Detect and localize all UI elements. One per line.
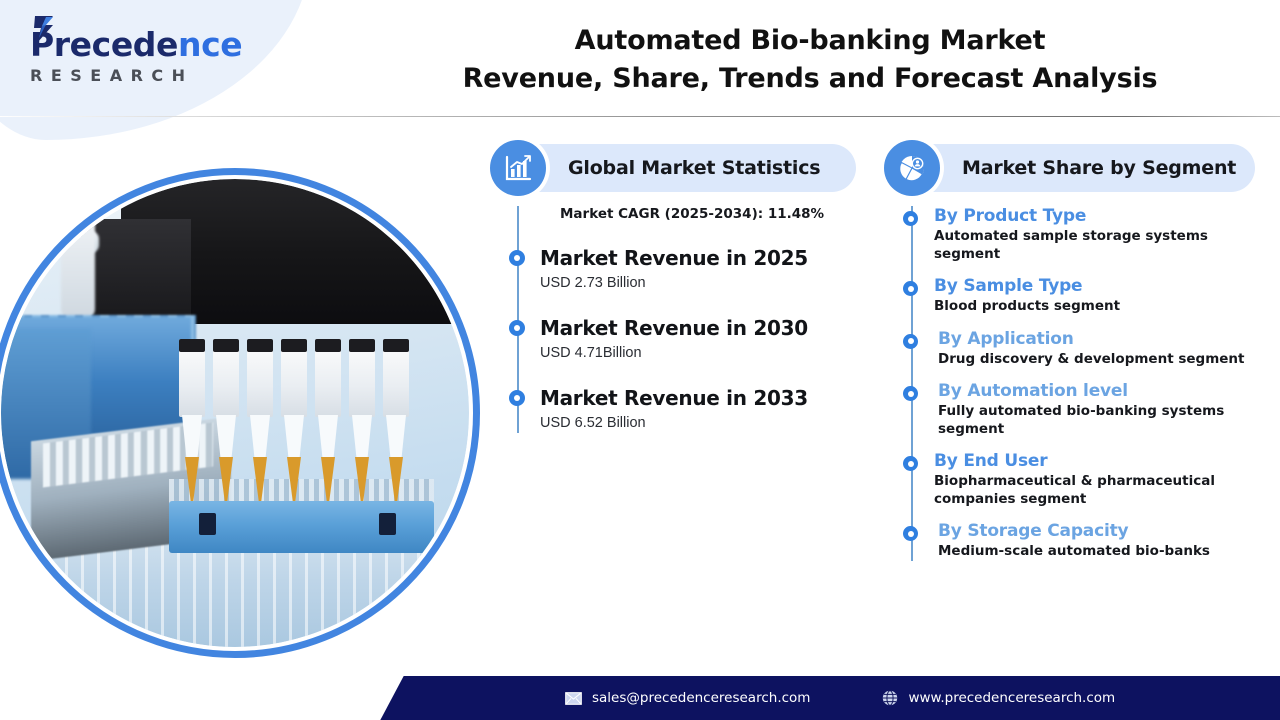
envelope-icon bbox=[565, 692, 582, 705]
segment-title: By Sample Type bbox=[934, 276, 1264, 297]
timeline-dot-icon bbox=[509, 320, 525, 336]
logo-text-tail: nce bbox=[178, 25, 242, 64]
timeline-dot-icon bbox=[903, 211, 918, 226]
segment-title: By End User bbox=[934, 451, 1264, 472]
segment-title: By Product Type bbox=[934, 206, 1264, 227]
segment-item-sample-type: By Sample Type Blood products segment bbox=[884, 276, 1264, 316]
stat-title: Market Revenue in 2025 bbox=[540, 246, 870, 270]
timeline-dot-icon bbox=[903, 334, 918, 349]
title-line-2: Revenue, Share, Trends and Forecast Anal… bbox=[430, 60, 1190, 98]
segment-item-product-type: By Product Type Automated sample storage… bbox=[884, 206, 1264, 263]
segment-title: By Storage Capacity bbox=[938, 521, 1264, 542]
logo-wordmark: Precedence bbox=[30, 26, 242, 64]
header-divider bbox=[0, 116, 1280, 117]
segment-value: Fully automated bio-banking systems segm… bbox=[938, 403, 1264, 438]
footer-email-text: sales@precedenceresearch.com bbox=[592, 690, 810, 706]
logo-text-mid: recede bbox=[54, 25, 178, 64]
logo-subtitle: RESEARCH bbox=[30, 66, 242, 85]
segment-value: Medium-scale automated bio-banks bbox=[938, 543, 1264, 561]
left-panel-pill: Global Market Statistics bbox=[516, 144, 856, 192]
stat-value: USD 2.73 Billion bbox=[540, 274, 870, 293]
timeline-dot-icon bbox=[509, 250, 525, 266]
right-panel-pill: Market Share by Segment bbox=[910, 144, 1255, 192]
stat-item-2025: Market Revenue in 2025 USD 2.73 Billion bbox=[490, 246, 870, 293]
segment-value: Drug discovery & development segment bbox=[938, 351, 1264, 369]
segment-item-automation-level: By Automation level Fully automated bio-… bbox=[884, 381, 1264, 438]
right-panel-header: Market Share by Segment bbox=[884, 140, 1264, 196]
stat-title: Market Revenue in 2030 bbox=[540, 316, 870, 340]
footer-website[interactable]: www.precedenceresearch.com bbox=[882, 690, 1115, 706]
segment-item-application: By Application Drug discovery & developm… bbox=[884, 329, 1264, 369]
stat-item-2033: Market Revenue in 2033 USD 6.52 Billion bbox=[490, 386, 870, 433]
stat-item-2030: Market Revenue in 2030 USD 4.71Billion bbox=[490, 316, 870, 363]
timeline-dot-icon bbox=[903, 456, 918, 471]
timeline-dot-icon bbox=[903, 281, 918, 296]
timeline-dot-icon bbox=[509, 390, 525, 406]
origami-arrow-icon bbox=[33, 14, 60, 44]
stat-value: USD 6.52 Billion bbox=[540, 414, 870, 433]
globe-icon bbox=[882, 690, 898, 706]
segment-value: Automated sample storage systems segment bbox=[934, 228, 1264, 263]
segment-value: Biopharmaceutical & pharmaceutical compa… bbox=[934, 473, 1264, 508]
pie-chart-segment-icon bbox=[884, 140, 940, 196]
page-title: Automated Bio-banking Market Revenue, Sh… bbox=[430, 22, 1190, 98]
title-line-1: Automated Bio-banking Market bbox=[430, 22, 1190, 60]
market-cagr: Market CAGR (2025-2034): 11.48% bbox=[490, 206, 870, 222]
footer-bar: sales@precedenceresearch.com www.precede… bbox=[430, 676, 1280, 720]
segment-item-end-user: By End User Biopharmaceutical & pharmace… bbox=[884, 451, 1264, 508]
header: Precedence RESEARCH Automated Bio-bankin… bbox=[0, 0, 1280, 117]
global-market-statistics-panel: Global Market Statistics Market CAGR (20… bbox=[490, 140, 870, 456]
stat-title: Market Revenue in 2033 bbox=[540, 386, 870, 410]
market-share-by-segment-panel: Market Share by Segment By Product Type bbox=[884, 140, 1264, 574]
right-panel-heading: Market Share by Segment bbox=[962, 157, 1236, 179]
left-panel-heading: Global Market Statistics bbox=[568, 157, 820, 179]
segment-timeline: By Product Type Automated sample storage… bbox=[884, 206, 1264, 561]
segment-title: By Application bbox=[938, 329, 1264, 350]
footer-website-text: www.precedenceresearch.com bbox=[908, 690, 1115, 706]
segment-title: By Automation level bbox=[938, 381, 1264, 402]
stat-value: USD 4.71Billion bbox=[540, 344, 870, 363]
hero-photo bbox=[0, 168, 480, 658]
footer-email[interactable]: sales@precedenceresearch.com bbox=[565, 690, 810, 706]
infographic-canvas: Precedence RESEARCH Automated Bio-bankin… bbox=[0, 0, 1280, 720]
segment-item-storage-capacity: By Storage Capacity Medium-scale automat… bbox=[884, 521, 1264, 561]
timeline-dot-icon bbox=[903, 386, 918, 401]
statistics-timeline: Market CAGR (2025-2034): 11.48% Market R… bbox=[490, 206, 870, 433]
segment-value: Blood products segment bbox=[934, 298, 1264, 316]
left-panel-header: Global Market Statistics bbox=[490, 140, 870, 196]
brand-logo[interactable]: Precedence RESEARCH bbox=[30, 26, 242, 85]
bar-chart-growth-icon bbox=[490, 140, 546, 196]
timeline-dot-icon bbox=[903, 526, 918, 541]
